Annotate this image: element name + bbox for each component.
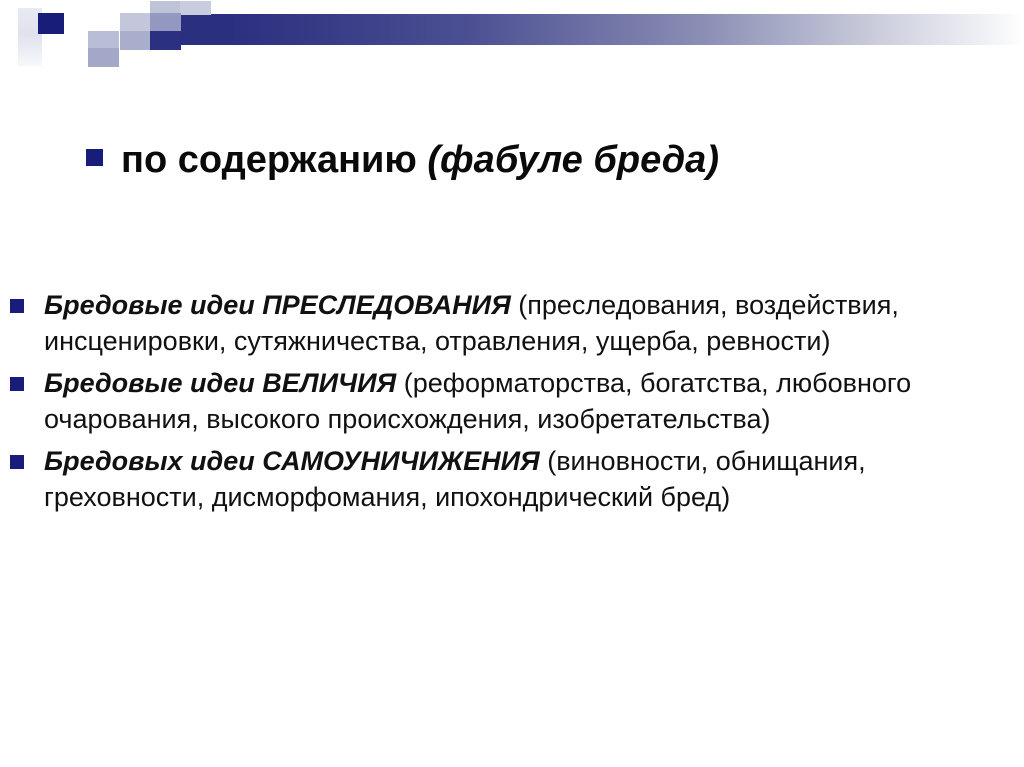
list-item-lead: Бредовые идеи ПРЕСЛЕДОВАНИЯ bbox=[44, 290, 511, 320]
slide-header-decoration bbox=[0, 0, 1024, 80]
decoration-square-b bbox=[88, 48, 119, 67]
presentation-slide: по содержанию (фабуле бреда) Бредовые ид… bbox=[0, 0, 1024, 767]
bullet-list: Бредовые идеи ПРЕСЛЕДОВАНИЯ (преследован… bbox=[10, 288, 970, 521]
decoration-square-dark bbox=[38, 13, 64, 34]
list-item-text: Бредовые идеи ВЕЛИЧИЯ (реформаторства, б… bbox=[44, 366, 970, 438]
square-bullet-icon bbox=[10, 299, 24, 313]
decoration-square-f bbox=[150, 13, 181, 33]
list-item-lead: Бредовые идеи ВЕЛИЧИЯ bbox=[44, 368, 396, 398]
slide-title: по содержанию (фабуле бреда) bbox=[86, 141, 719, 181]
title-italic-text: (фабуле бреда) bbox=[427, 139, 719, 181]
list-item: Бредовые идеи ПРЕСЛЕДОВАНИЯ (преследован… bbox=[10, 288, 970, 360]
square-bullet-icon bbox=[86, 149, 103, 166]
gradient-bar bbox=[180, 14, 1024, 45]
page-title: по содержанию (фабуле бреда) bbox=[121, 141, 719, 181]
decoration-square-g bbox=[150, 31, 181, 50]
list-item: Бредовые идеи ВЕЛИЧИЯ (реформаторства, б… bbox=[10, 366, 970, 438]
decoration-square-h bbox=[180, 1, 211, 15]
list-item-lead: Бредовых идеи САМОУНИЧИЖЕНИЯ bbox=[44, 446, 540, 476]
list-item: Бредовых идеи САМОУНИЧИЖЕНИЯ (виновности… bbox=[10, 444, 970, 516]
square-bullet-icon bbox=[10, 377, 24, 391]
decoration-square-c bbox=[120, 13, 151, 33]
list-item-text: Бредовых идеи САМОУНИЧИЖЕНИЯ (виновности… bbox=[44, 444, 970, 516]
title-plain-text: по содержанию bbox=[121, 139, 427, 181]
list-item-text: Бредовые идеи ПРЕСЛЕДОВАНИЯ (преследован… bbox=[44, 288, 970, 360]
square-bullet-icon bbox=[10, 455, 24, 469]
decoration-square-d bbox=[120, 31, 151, 50]
